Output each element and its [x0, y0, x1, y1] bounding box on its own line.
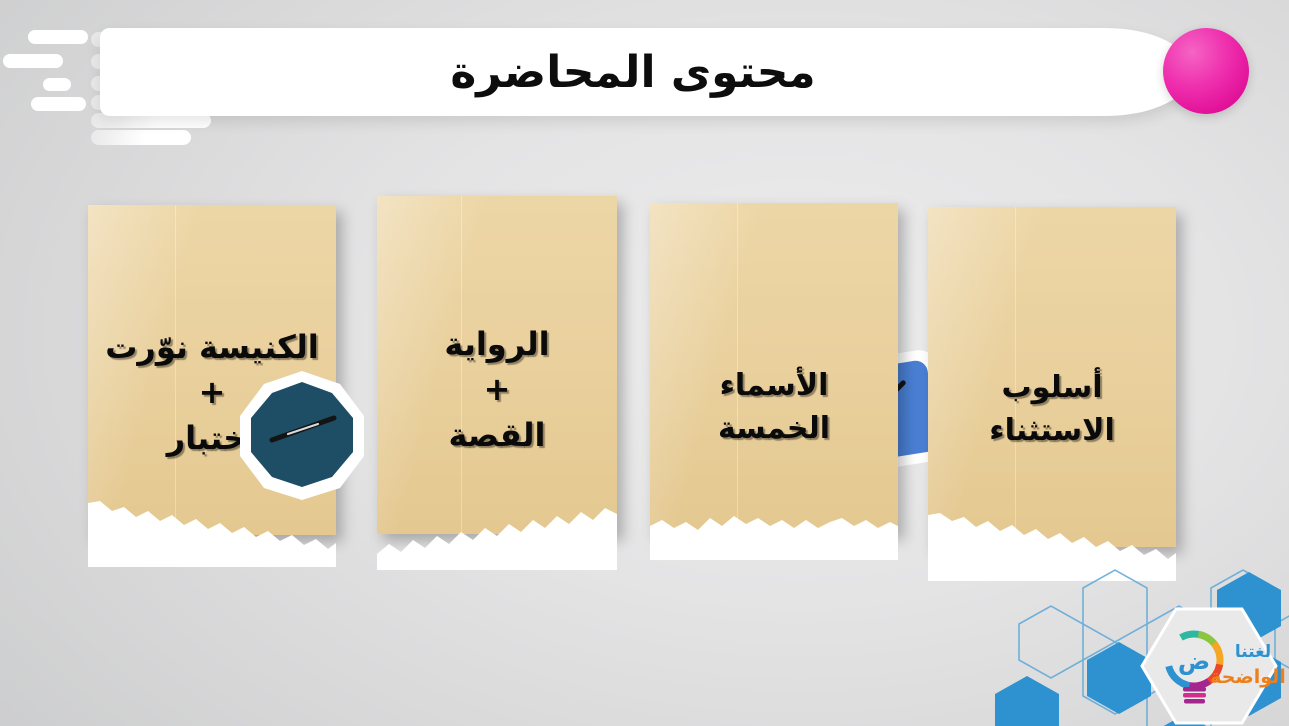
- torn-paper-edge: [650, 508, 898, 560]
- content-card[interactable]: الكنيسة نوّرت + اختبار: [88, 205, 336, 550]
- card-text: الأسماء الخمسة: [650, 365, 898, 450]
- logo-line-2: الواضحة: [1210, 666, 1286, 688]
- logo-letter: ض: [1178, 647, 1210, 675]
- torn-paper-edge: [88, 497, 336, 567]
- card-badge: [236, 368, 368, 500]
- content-card[interactable]: الرواية + القصة: [377, 196, 617, 551]
- page-title: محتوى المحاضرة: [100, 28, 1192, 116]
- content-card[interactable]: أسلوب الاستثناء: [928, 207, 1176, 559]
- card-text: أسلوب الاستثناء: [928, 367, 1176, 452]
- brand-logo[interactable]: ض لغتنا الواضحة: [1138, 605, 1289, 726]
- torn-paper-edge: [377, 496, 617, 570]
- title-banner: محتوى المحاضرة: [100, 28, 1192, 116]
- pink-sphere-icon: [1163, 28, 1249, 114]
- slide-canvas: محتوى المحاضرة الكنيسة نوّرت + اختبار: [0, 0, 1289, 726]
- logo-line-1: لغتنا: [1235, 642, 1271, 662]
- card-text: الرواية + القصة: [377, 322, 617, 458]
- content-card[interactable]: الأسماء الخمسة: [650, 203, 898, 548]
